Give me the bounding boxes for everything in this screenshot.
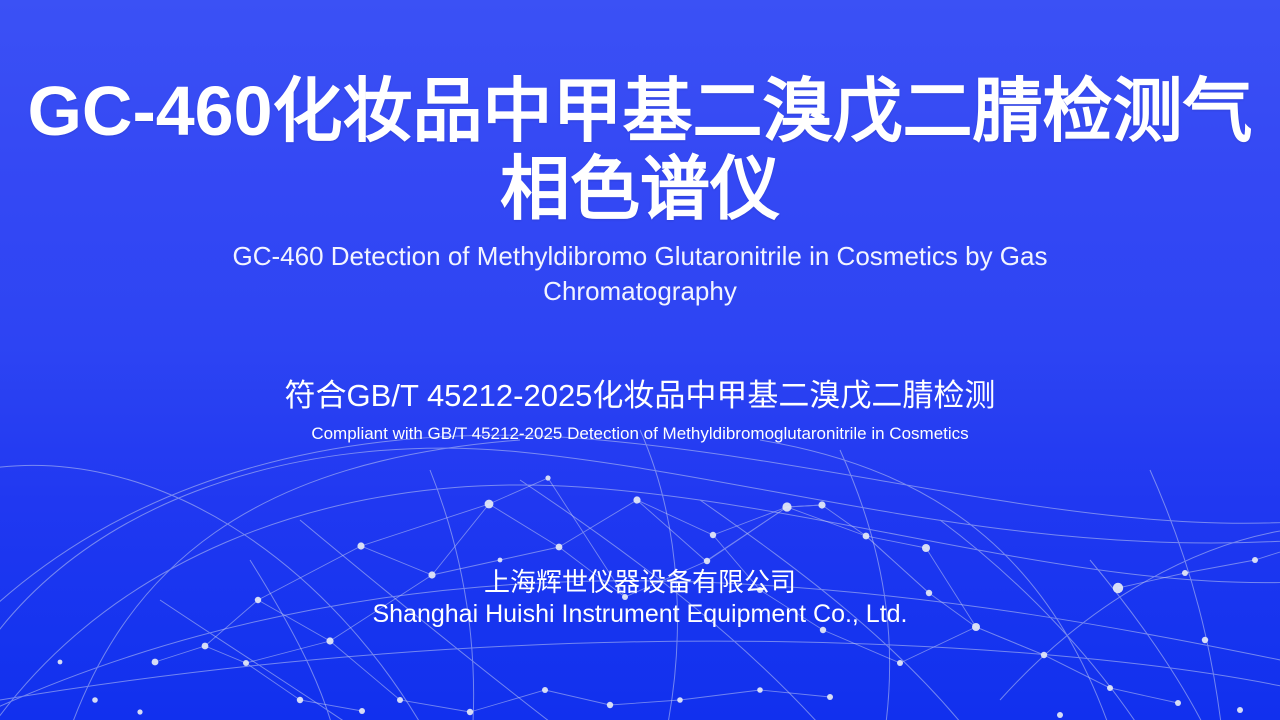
page-title-cn: GC-460化妆品中甲基二溴戊二腈检测气相色谱仪 xyxy=(0,72,1280,229)
company-block: 上海辉世仪器设备有限公司 Shanghai Huishi Instrument … xyxy=(0,567,1280,629)
page-title-en: GC-460 Detection of Methyldibromo Glutar… xyxy=(160,229,1120,309)
slide-content: GC-460化妆品中甲基二溴戊二腈检测气相色谱仪 GC-460 Detectio… xyxy=(0,0,1280,720)
title-block: GC-460化妆品中甲基二溴戊二腈检测气相色谱仪 GC-460 Detectio… xyxy=(0,72,1280,308)
company-name-cn: 上海辉世仪器设备有限公司 xyxy=(0,567,1280,598)
standard-compliance-block: 符合GB/T 45212-2025化妆品中甲基二溴戊二腈检测 Compliant… xyxy=(0,377,1280,445)
standard-compliance-en: Compliant with GB/T 45212-2025 Detection… xyxy=(0,416,1280,445)
title-slide: GC-460化妆品中甲基二溴戊二腈检测气相色谱仪 GC-460 Detectio… xyxy=(0,0,1280,720)
company-name-en: Shanghai Huishi Instrument Equipment Co.… xyxy=(0,598,1280,630)
standard-compliance-cn: 符合GB/T 45212-2025化妆品中甲基二溴戊二腈检测 xyxy=(0,377,1280,416)
